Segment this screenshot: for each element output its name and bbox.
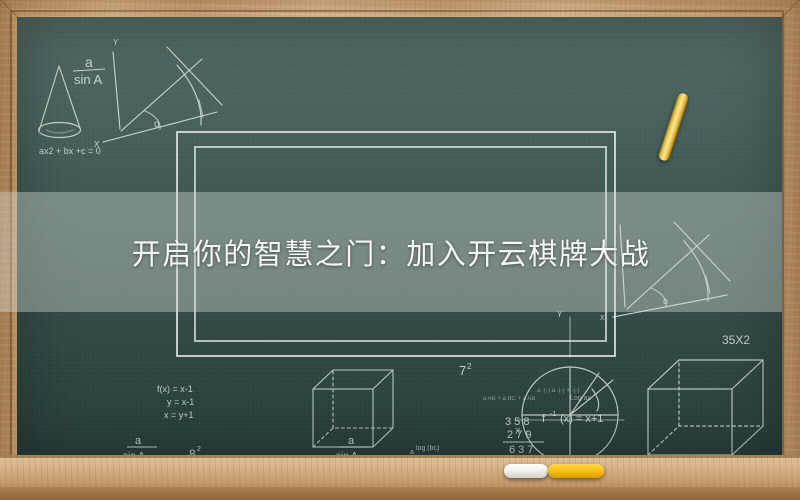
white-chalk-icon bbox=[504, 464, 548, 478]
page-title: 开启你的智慧之门：加入开云棋牌大战 bbox=[0, 192, 782, 312]
blackboard-banner-image: Y X o a sin A ax2 + bx +c = 0 bbox=[0, 0, 800, 500]
ledge-front-edge bbox=[0, 487, 800, 500]
ledge-lip bbox=[0, 455, 800, 458]
yellow-chalk-icon bbox=[548, 464, 604, 478]
